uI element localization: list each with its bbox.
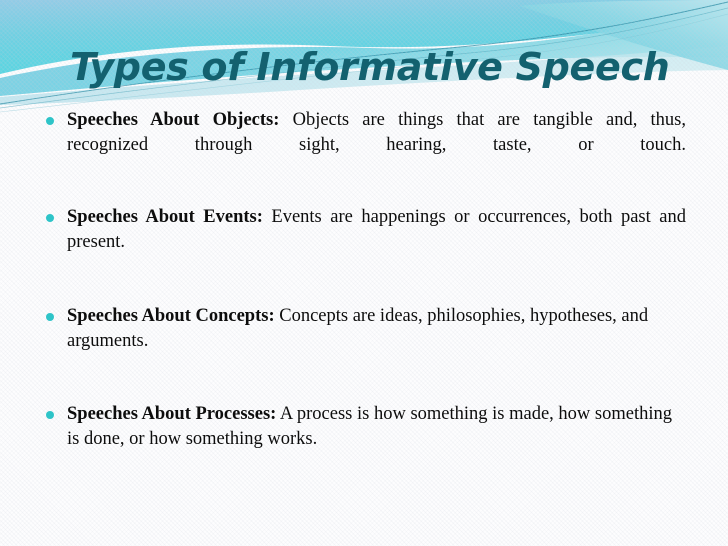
- bullet-dot-icon: [46, 117, 54, 125]
- bullet-list: Speeches About Objects: Objects are thin…: [0, 108, 728, 477]
- bullet-dot-icon: [46, 313, 54, 321]
- list-item: Speeches About Processes: A process is h…: [0, 402, 728, 477]
- presentation-slide: Types of Informative Speech Speeches Abo…: [0, 0, 728, 546]
- bullet-dot-icon: [46, 214, 54, 222]
- bullet-dot-icon: [46, 411, 54, 419]
- bullet-lead: Speeches About Objects:: [67, 110, 279, 130]
- list-item: Speeches About Objects: Objects are thin…: [0, 108, 728, 183]
- bullet-text: Speeches About Events: Events are happen…: [67, 205, 686, 280]
- bullet-lead: Speeches About Events:: [67, 207, 263, 227]
- list-item: Speeches About Concepts: Concepts are id…: [0, 304, 728, 379]
- bullet-lead: Speeches About Concepts:: [67, 306, 275, 326]
- bullet-text: Speeches About Processes: A process is h…: [67, 402, 686, 477]
- bullet-lead: Speeches About Processes:: [67, 404, 276, 424]
- page-title: Types of Informative Speech: [70, 45, 669, 89]
- list-item: Speeches About Events: Events are happen…: [0, 205, 728, 280]
- bullet-text: Speeches About Concepts: Concepts are id…: [67, 304, 686, 379]
- slide-body: Speeches About Objects: Objects are thin…: [0, 108, 728, 477]
- bullet-text: Speeches About Objects: Objects are thin…: [67, 108, 686, 183]
